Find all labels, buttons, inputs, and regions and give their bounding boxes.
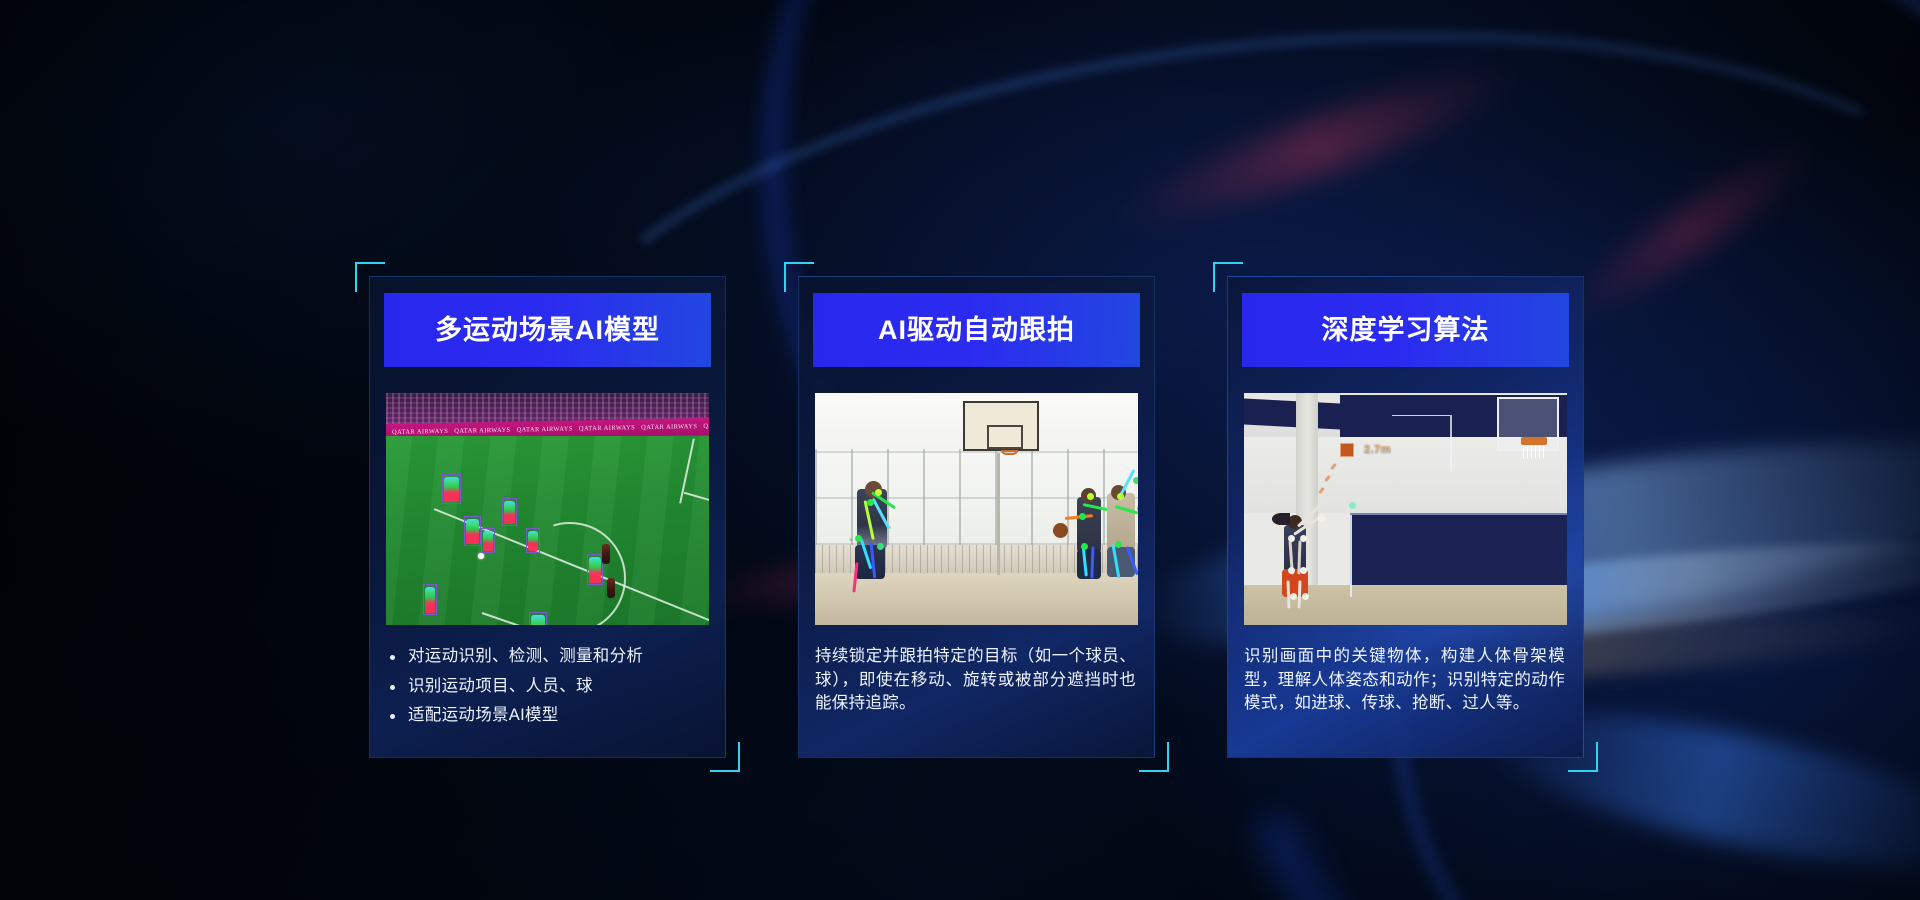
detection-box: [587, 554, 603, 585]
skeleton-joint: [1081, 543, 1088, 550]
detection-box: [502, 498, 517, 526]
measurement-guide-line: [1350, 515, 1352, 597]
skeleton-joint: [1133, 477, 1138, 484]
soccer-ball: [478, 553, 484, 559]
feature-card-row: 多运动场景AI模型 QATAR AIRWAYS QATAR AIRWAYS QA…: [355, 262, 1598, 772]
card-title: AI驱动自动跟拍: [878, 317, 1075, 344]
pose-segmentation: [504, 501, 515, 524]
detection-box: [464, 516, 481, 546]
detection-box: [529, 612, 547, 625]
pose-segmentation: [589, 557, 601, 583]
court-wall-padding: [1350, 513, 1567, 591]
card-media-basketball-shot-measurement: 2.7m: [1244, 393, 1567, 625]
card-title: 多运动场景AI模型: [435, 317, 660, 344]
pose-segmentation: [466, 519, 479, 544]
skeleton-joint: [1079, 513, 1086, 520]
hoop-net: [1523, 445, 1545, 459]
gym-floor: [815, 573, 1138, 625]
list-item: 对运动识别、检测、测量和分析: [386, 645, 707, 669]
skeleton-joint: [1290, 593, 1297, 600]
skeleton-joint: [867, 499, 874, 506]
list-item: 适配运动场景AI模型: [386, 704, 707, 728]
sponsor-banner-text: QATAR AIRWAYS: [448, 427, 510, 435]
sponsor-banner-text: QATAR AIRWAYS: [573, 424, 635, 432]
trajectory-line: [1392, 415, 1450, 416]
card-header: AI驱动自动跟拍: [813, 293, 1140, 367]
corner-bracket-bottom-right-icon: [1139, 742, 1169, 772]
card-media-soccer-pitch-detection: QATAR AIRWAYS QATAR AIRWAYS QATAR AIRWAY…: [386, 393, 709, 625]
skeleton-joint: [1302, 593, 1309, 600]
feature-bullet-list: 对运动识别、检测、测量和分析 识别运动项目、人员、球 适配运动场景AI模型: [386, 645, 707, 728]
card-panel: 深度学习算法: [1227, 276, 1584, 758]
detection-box: [481, 528, 495, 553]
pose-segmentation: [483, 531, 493, 551]
skeleton-joint: [1115, 541, 1122, 548]
pitch-grass: [386, 436, 709, 625]
player-hair: [1272, 513, 1290, 525]
card-media-indoor-gym-pose-tracking: [815, 393, 1138, 625]
player-shorts: [1077, 549, 1101, 579]
undetected-player: [602, 544, 610, 564]
detection-box: [526, 528, 540, 553]
skeleton-joint: [1137, 505, 1138, 512]
basketball: [1053, 523, 1068, 538]
corner-bracket-top-left-icon: [1213, 262, 1243, 292]
feature-description: 识别画面中的关键物体，构建人体骨架模型，理解人体姿态和动作；识别特定的动作模式，…: [1244, 645, 1565, 716]
skeleton-joint: [1318, 515, 1325, 522]
skeleton-joint: [877, 543, 884, 550]
trajectory-line: [1450, 415, 1452, 471]
skeleton-joint: [855, 535, 862, 542]
card-body: 持续锁定并跟拍特定的目标（如一个球员、球），即使在移动、旋转或被部分遮挡时也能保…: [815, 645, 1136, 716]
skeleton-joint: [1288, 535, 1295, 542]
skeleton-joint: [1288, 567, 1295, 574]
feature-card-ai-auto-tracking[interactable]: AI驱动自动跟拍: [784, 262, 1169, 772]
pose-segmentation: [425, 587, 435, 613]
ball-detection-box: [1340, 443, 1354, 457]
feature-card-deep-learning-algorithm[interactable]: 深度学习算法: [1213, 262, 1598, 772]
sponsor-banner-text: QATAR AIRWAYS: [635, 423, 697, 431]
skeleton-joint: [1117, 493, 1124, 500]
measurement-label: 2.7m: [1364, 443, 1391, 455]
backboard: [963, 401, 1039, 451]
skeleton-joint: [1087, 493, 1094, 500]
list-item: 识别运动项目、人员、球: [386, 675, 707, 699]
skeleton-joint: [875, 489, 882, 496]
detection-box: [423, 584, 437, 615]
slide-canvas: 多运动场景AI模型 QATAR AIRWAYS QATAR AIRWAYS QA…: [0, 0, 1920, 900]
card-title: 深度学习算法: [1322, 317, 1490, 344]
hoop-rim-icon: [1001, 450, 1018, 455]
card-panel: AI驱动自动跟拍: [798, 276, 1155, 758]
court-scene: 2.7m: [1244, 393, 1567, 625]
corner-bracket-top-left-icon: [784, 262, 814, 292]
pose-segmentation: [528, 531, 538, 551]
corner-bracket-bottom-right-icon: [710, 742, 740, 772]
light-streak-magenta-1: [1113, 48, 1527, 244]
gym-scene: [815, 393, 1138, 625]
card-body: 对运动识别、检测、测量和分析 识别运动项目、人员、球 适配运动场景AI模型: [386, 645, 707, 728]
pose-segmentation: [444, 477, 459, 502]
tracked-point-marker: [1348, 501, 1357, 510]
pitch-line: [684, 492, 709, 510]
card-panel: 多运动场景AI模型 QATAR AIRWAYS QATAR AIRWAYS QA…: [369, 276, 726, 758]
sponsor-banner-text: QATAR AIRWAYS: [386, 428, 448, 436]
skeleton-joint: [1300, 567, 1307, 574]
corner-bracket-top-left-icon: [355, 262, 385, 292]
hoop-rim-icon: [1521, 437, 1547, 445]
card-header: 深度学习算法: [1242, 293, 1569, 367]
corner-bracket-bottom-right-icon: [1568, 742, 1598, 772]
court-wall-band-left: [1244, 398, 1340, 429]
card-body: 识别画面中的关键物体，构建人体骨架模型，理解人体姿态和动作；识别特定的动作模式，…: [1244, 645, 1565, 716]
skeleton-joint: [1300, 535, 1307, 542]
sponsor-banner-text: QATAR AIRWAYS: [697, 422, 709, 430]
sponsor-banner-text: QATAR AIRWAYS: [511, 426, 573, 434]
hoop-pole: [997, 453, 1000, 575]
card-header: 多运动场景AI模型: [384, 293, 711, 367]
feature-card-multi-sport-ai-model[interactable]: 多运动场景AI模型 QATAR AIRWAYS QATAR AIRWAYS QA…: [355, 262, 740, 772]
feature-description: 持续锁定并跟拍特定的目标（如一个球员、球），即使在移动、旋转或被部分遮挡时也能保…: [815, 645, 1136, 716]
undetected-player: [607, 578, 615, 598]
detection-box: [442, 474, 461, 504]
soccer-scene: QATAR AIRWAYS QATAR AIRWAYS QATAR AIRWAY…: [386, 393, 709, 625]
pose-segmentation: [531, 615, 545, 625]
